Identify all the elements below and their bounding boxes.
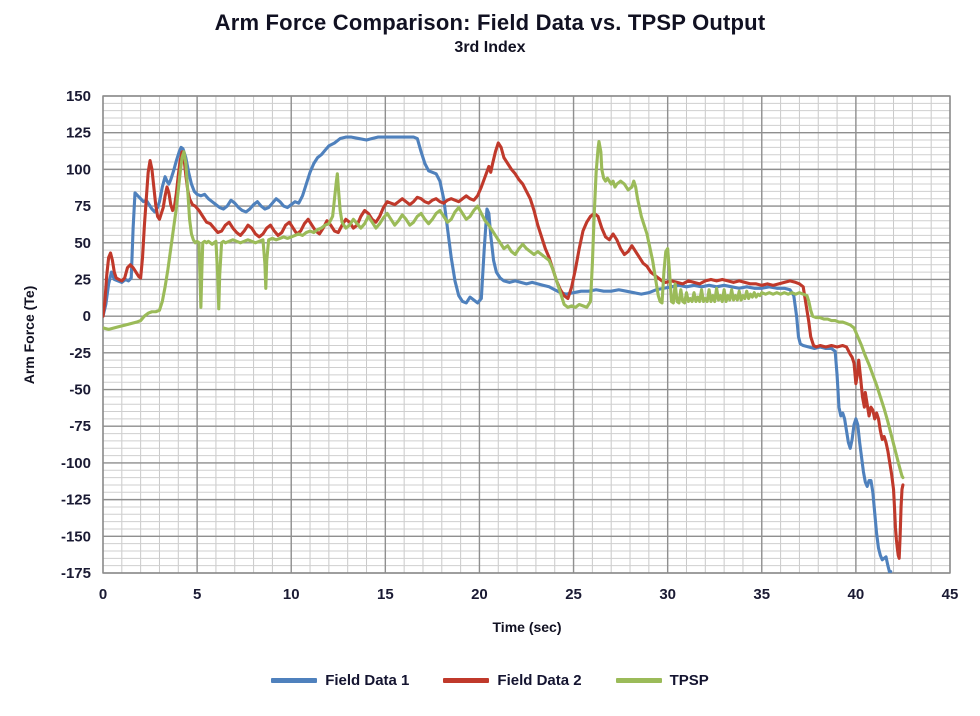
x-tick-label: 30 xyxy=(659,586,676,603)
legend-swatch-icon xyxy=(271,678,317,683)
plot-background xyxy=(103,96,950,573)
x-tick-label: 5 xyxy=(193,586,201,603)
x-axis-label: Time (sec) xyxy=(493,619,562,635)
legend-label: Field Data 1 xyxy=(325,672,409,689)
legend-swatch-icon xyxy=(443,678,489,683)
x-tick-label: 0 xyxy=(99,586,107,603)
legend-item-field-data-2[interactable]: Field Data 2 xyxy=(443,672,581,689)
y-tick-label: -25 xyxy=(69,345,91,362)
y-tick-label: -50 xyxy=(69,382,91,399)
legend-label: Field Data 2 xyxy=(497,672,581,689)
y-axis-label: Arm Force (Te) xyxy=(21,286,37,385)
y-tick-label: -125 xyxy=(61,492,91,509)
y-tick-label: 150 xyxy=(66,88,91,105)
y-tick-label: -100 xyxy=(61,455,91,472)
x-tick-label: 40 xyxy=(848,586,865,603)
x-tick-label: 15 xyxy=(377,586,394,603)
legend-item-tpsp[interactable]: TPSP xyxy=(616,672,709,689)
legend-label: TPSP xyxy=(670,672,709,689)
y-tick-label: 125 xyxy=(66,125,91,142)
chart-container: Arm Force Comparison: Field Data vs. TPS… xyxy=(0,0,980,716)
x-tick-label: 10 xyxy=(283,586,300,603)
y-tick-label: 0 xyxy=(83,308,91,325)
y-tick-label: -75 xyxy=(69,418,91,435)
y-tick-label: 75 xyxy=(74,198,91,215)
y-axis-ticks: 1501251007550250-25-50-75-100-125-150-17… xyxy=(61,88,91,582)
legend: Field Data 1 Field Data 2 TPSP xyxy=(0,672,980,689)
plot-area: 1501251007550250-25-50-75-100-125-150-17… xyxy=(0,0,980,716)
y-tick-label: -150 xyxy=(61,528,91,545)
y-tick-label: -175 xyxy=(61,565,91,582)
x-tick-label: 35 xyxy=(753,586,770,603)
y-tick-label: 25 xyxy=(74,271,91,288)
y-tick-label: 100 xyxy=(66,161,91,178)
x-tick-label: 45 xyxy=(942,586,959,603)
x-axis-ticks: 051015202530354045 xyxy=(99,586,959,603)
x-tick-label: 20 xyxy=(471,586,488,603)
legend-swatch-icon xyxy=(616,678,662,683)
legend-item-field-data-1[interactable]: Field Data 1 xyxy=(271,672,409,689)
y-tick-label: 50 xyxy=(74,235,91,252)
x-tick-label: 25 xyxy=(565,586,582,603)
